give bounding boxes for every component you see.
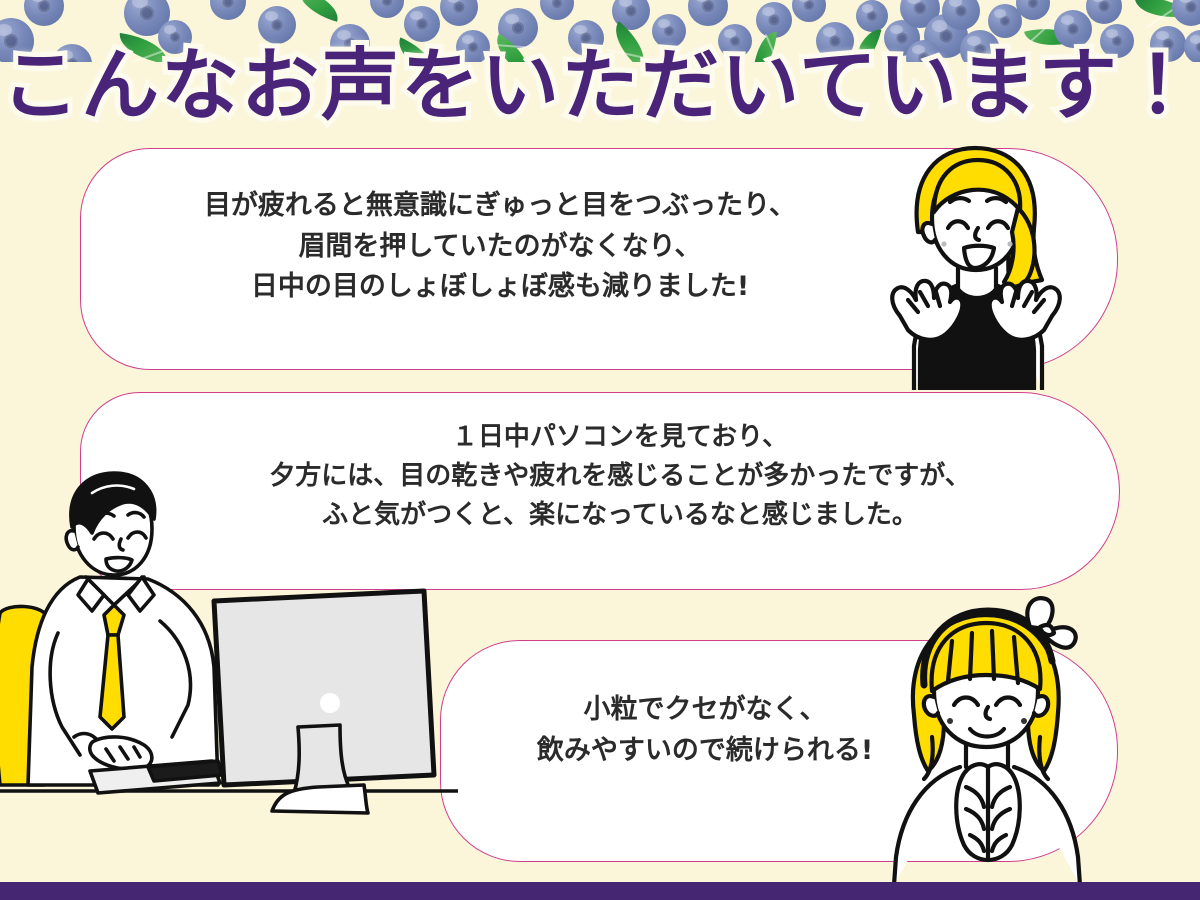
blueberry-icon — [1016, 0, 1050, 20]
girl-clasped-hands-illustration — [862, 595, 1112, 885]
blueberry-icon — [988, 4, 1022, 38]
blueberry-icon — [792, 0, 826, 22]
leaf-icon — [1135, 0, 1185, 21]
blueberry-icon — [124, 0, 170, 36]
blueberry-icon — [370, 0, 404, 18]
blueberry-icon — [210, 0, 246, 20]
page-title: こんなお声をいただいています！ — [1, 47, 1199, 125]
blueberry-icon — [688, 0, 728, 26]
blueberry-icon — [24, 0, 64, 26]
blueberry-icon — [756, 2, 792, 38]
man-at-computer-illustration — [0, 455, 458, 855]
blueberry-icon — [900, 0, 940, 28]
testimonial-text-1: 目が疲れると無意識にぎゅっと目をつぶったり、 眉間を押していたのがなくなり、 日… — [120, 186, 880, 308]
testimonial-poster: こんなお声をいただいています！ 目が疲れると無意識にぎゅっと目をつぶったり、 眉… — [0, 0, 1200, 900]
woman-raising-hands-illustration — [860, 140, 1090, 390]
testimonial-1-line-1: 目が疲れると無意識にぎゅっと目をつぶったり、 — [120, 186, 880, 227]
page-title-area: こんなお声をいただいています！ — [0, 36, 1200, 136]
testimonial-1-line-3: 日中の目のしょぼしょぼ感も減りました! — [120, 267, 880, 308]
blueberry-icon — [1086, 0, 1122, 24]
bottom-accent-bar — [0, 882, 1200, 900]
blueberry-icon — [612, 0, 650, 30]
blueberry-icon — [540, 0, 574, 20]
blueberry-icon — [1172, 0, 1200, 26]
leaf-icon — [294, 0, 343, 21]
blueberry-icon — [440, 0, 478, 26]
blueberry-icon — [942, 0, 980, 30]
blueberry-icon — [856, 0, 888, 32]
testimonial-2-line-1: １日中パソコンを見ており、 — [150, 418, 1090, 457]
testimonial-1-line-2: 眉間を押していたのがなくなり、 — [120, 227, 880, 268]
